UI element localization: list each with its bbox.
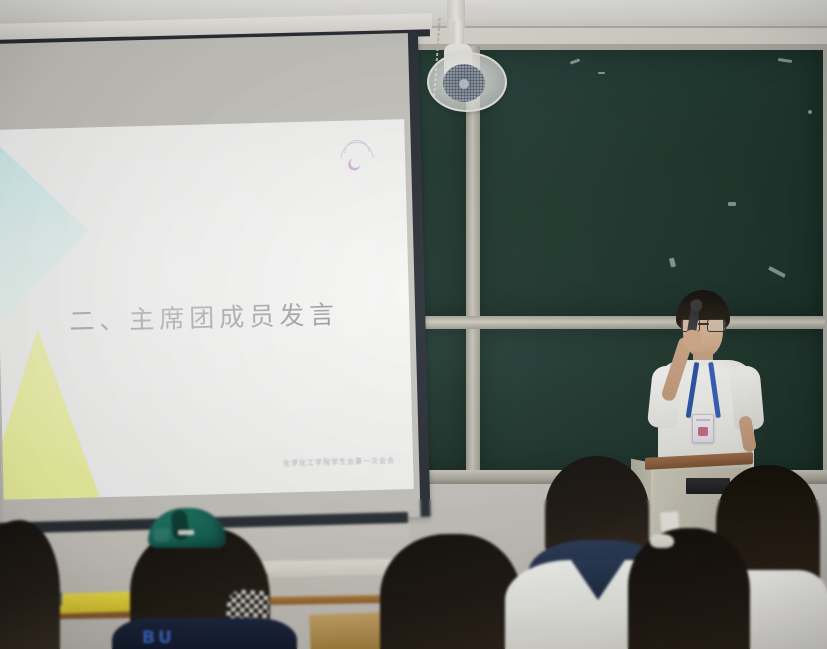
chalk-mark (728, 202, 736, 206)
speaker-fringe (677, 300, 729, 320)
chalk-mark (768, 266, 786, 278)
slide-cyan-diamond-shape (0, 147, 88, 319)
audience-green-cap: BU (112, 618, 297, 649)
audience-front-right (628, 528, 750, 649)
uniform-v-neck (571, 560, 625, 600)
cap-seam (170, 509, 189, 541)
chalk-mark (808, 110, 812, 114)
badge-emblem (698, 427, 708, 436)
cap-strap (154, 528, 170, 542)
fan-hub (459, 79, 469, 89)
chalk-mark (570, 58, 580, 64)
slide-title: 二、主席团成员发言 (0, 293, 410, 340)
badge-line (696, 419, 710, 421)
wall-mounted-fan-icon (427, 52, 507, 112)
projection-screen: 二、主席团成员发言 化学化工学院学生会第一次会合 (0, 33, 429, 528)
slide-footer: 化学化工学院学生会第一次会合 (283, 456, 395, 469)
classroom-presentation-photo: 二、主席团成员发言 化学化工学院学生会第一次会合 (0, 0, 827, 649)
chalk-mark (669, 258, 676, 268)
chalk-mark (778, 58, 792, 63)
slide-yellow-triangle-shape-small (0, 430, 14, 500)
hair-clip (650, 534, 674, 548)
slide-logo-icon (330, 132, 383, 181)
projected-slide: 二、主席团成员发言 化学化工学院学生会第一次会合 (0, 119, 414, 500)
chalk-mark (598, 72, 605, 74)
shirt-text: BU (142, 628, 175, 648)
audience-center (380, 534, 522, 649)
cap-tag (178, 530, 194, 535)
blackboard-panel-top-right (478, 50, 823, 318)
glasses-lens-right (707, 319, 726, 332)
slide-yellow-triangle-shape (0, 327, 100, 499)
id-badge (692, 414, 714, 443)
